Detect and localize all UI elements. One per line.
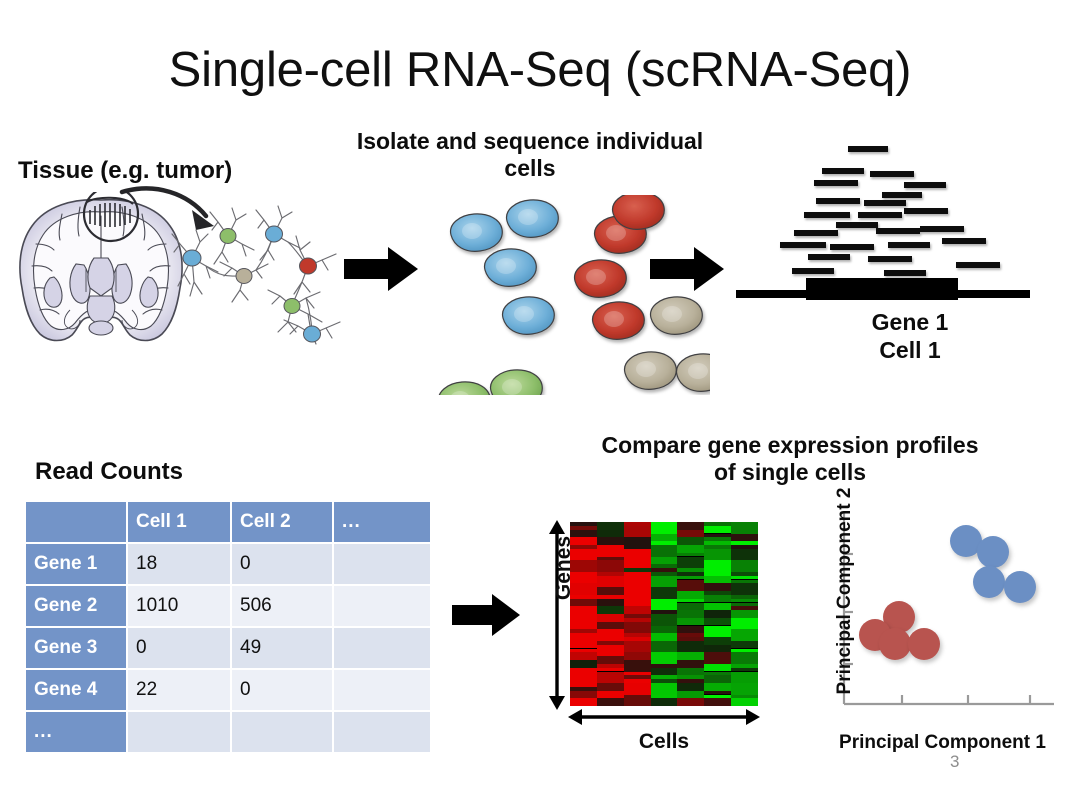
heatmap-cell [651,576,678,588]
heatmap-cell [731,522,758,534]
heatmap-cell [704,583,731,591]
heatmap-cell [624,683,651,695]
row-value-rest [334,628,430,668]
heatmap-cell [570,537,597,545]
row-value-rest [334,586,430,626]
sequencing-reads-pileup [718,138,1048,308]
heatmap-cell [704,618,731,626]
heatmap-cell [597,622,624,630]
heatmap-cell [651,545,678,557]
neuron-soma-green [284,299,300,314]
heatmap-column [704,522,731,706]
table-row: Gene 2 1010 506 [26,586,430,626]
heatmap-cell [597,587,624,595]
pca-point-red [879,628,911,660]
heatmap-cell [731,629,758,641]
heatmap-cell [704,549,731,561]
heatmap-cell [704,626,731,638]
row-value-cell1 [128,712,230,752]
heatmap-cell [704,664,731,672]
heatmap-cell [624,606,651,614]
heatmap-cell [677,557,704,569]
heatmap-column [624,522,651,706]
heatmap-cell [624,526,651,538]
isolated-cells-illustration [420,195,710,395]
heatmap-cell [731,652,758,664]
heatmap-column [731,522,758,706]
heatmap-canvas [570,522,758,706]
heatmap-cell [651,652,678,664]
pca-scatter-plot: Principal Component 2 Principal Componen… [800,500,1065,770]
heatmap-cell [677,698,704,706]
heatmap-cell [704,637,731,645]
heatmap-cell [624,652,651,660]
heatmap-cell [677,691,704,699]
pca-y-axis-label: Principal Component 2 [834,476,856,706]
heatmap-cell [597,522,624,530]
heatmap-cell [651,668,678,676]
heatmap-cell [677,626,704,634]
heatmap-cell [597,530,624,538]
heatmap-cell [651,698,678,706]
heatmap-cell [677,522,704,530]
read-bars [780,146,1000,276]
row-value-rest [334,712,430,752]
heatmap-column [597,522,624,706]
neuron-network-illustration [170,190,350,345]
heatmap-cell [704,645,731,653]
heatmap-cell [651,633,678,641]
heatmap-cell [704,526,731,534]
heatmap-cell [704,683,731,691]
row-label: ... [26,712,126,752]
heatmap-cell [570,599,597,607]
row-label: Gene 3 [26,628,126,668]
pca-axes [840,508,1058,720]
heatmap-cell [677,652,704,660]
heatmap-cell [597,675,624,683]
compare-expression-heading: Compare gene expression profiles of sing… [590,432,990,486]
row-value-cell2: 0 [232,670,332,710]
heatmap-cell [677,668,704,676]
row-value-cell1: 18 [128,544,230,584]
row-label: Gene 1 [26,544,126,584]
heatmap-cell [704,595,731,603]
heatmap-cell [624,660,651,672]
heatmap-column [570,522,597,706]
heatmap-cell [624,583,651,595]
heatmap-cell [677,610,704,618]
cells-axis-arrow [568,708,760,726]
heatmap-cell [731,698,758,706]
arrow-to-isolated-cells [344,245,420,293]
neuron-soma-tan [236,269,252,284]
cell-label: Cell 1 [780,336,1040,364]
heatmap-cell [570,530,597,538]
heatmap-cell [731,672,758,684]
heatmap-cell [597,656,624,664]
heatmap-cell [651,522,678,534]
heatmap-cell [677,580,704,592]
heatmap-cell [731,618,758,630]
heatmap-cell [570,606,597,614]
table-header-row: Cell 1 Cell 2 ... [26,502,430,542]
row-value-cell2: 49 [232,628,332,668]
expression-heatmap: Genes Cells [540,508,780,768]
table-header-cell-2: Cell 2 [232,502,332,542]
table-header-cell-1: Cell 1 [128,502,230,542]
table-row: Gene 4 22 0 [26,670,430,710]
heatmap-cell [570,583,597,595]
table-row: Gene 1 18 0 [26,544,430,584]
heatmap-cell [570,549,597,561]
arrow-to-sequencing [650,245,726,293]
row-value-cell1: 22 [128,670,230,710]
row-label: Gene 2 [26,586,126,626]
page-title: Single-cell RNA-Seq (scRNA-Seq) [0,42,1080,98]
heatmap-cell [597,629,624,641]
pca-x-axis-label: Principal Component 1 [820,732,1065,754]
heatmap-cell [731,683,758,695]
heatmap-cell [651,641,678,653]
row-label: Gene 4 [26,670,126,710]
heatmap-cell [677,545,704,553]
heatmap-cell [570,641,597,649]
heatmap-cell [597,560,624,572]
heatmap-cell [624,622,651,634]
heatmap-cell [704,603,731,611]
row-value-rest [334,670,430,710]
heatmap-cell [731,560,758,572]
heatmap-cell [704,675,731,683]
heatmap-cell [624,572,651,584]
heatmap-cell [570,572,597,584]
heatmap-cell [651,599,678,611]
heatmap-cell [731,534,758,542]
heatmap-cell [597,614,624,622]
heatmap-cell [651,557,678,565]
heatmap-cell [570,660,597,668]
heatmap-column [651,522,678,706]
row-value-cell2: 0 [232,544,332,584]
heatmap-cell [597,645,624,657]
heatmap-cell [624,695,651,707]
heatmap-cell [677,530,704,538]
table-corner-cell [26,502,126,542]
heatmap-cell [624,560,651,568]
gene-label: Gene 1 [780,308,1040,336]
heatmap-cell [597,537,624,545]
row-value-cell1: 0 [128,628,230,668]
table-header-cell-3: ... [334,502,430,542]
heatmap-cell [651,534,678,542]
isolate-sequence-heading: Isolate and sequence individual cells [355,128,705,182]
heatmap-cell [570,691,597,699]
heatmap-cell [704,576,731,584]
heatmap-cell [704,564,731,576]
heatmap-cell [570,633,597,641]
heatmap-cell [570,668,597,676]
heatmap-cell [597,606,624,614]
neuron-soma-blue [183,250,201,266]
heatmap-cell [731,549,758,561]
heatmap-cell [597,599,624,607]
heatmap-cell [624,549,651,561]
heatmap-cell [651,626,678,634]
slide-canvas: Single-cell RNA-Seq (scRNA-Seq) Tissue (… [0,0,1080,810]
heatmap-cell [731,583,758,595]
pca-point-blue [977,536,1009,568]
heatmap-cell [677,603,704,611]
heatmap-cell [570,560,597,572]
heatmap-cell [651,614,678,626]
pca-point-blue [973,566,1005,598]
heatmap-cell [704,698,731,706]
heatmap-cell [624,641,651,653]
neuron-soma-red [300,258,317,274]
heatmap-cell [624,537,651,549]
heatmap-cell [704,610,731,618]
heatmap-cell [677,537,704,545]
neuron-soma-blue [266,226,283,242]
gene-cell-label: Gene 1 Cell 1 [780,308,1040,364]
heatmap-cell [597,698,624,706]
heatmap-cell [597,683,624,691]
heatmap-cell [704,652,731,664]
heatmap-cell [570,652,597,660]
heatmap-cell [597,545,624,557]
read-counts-heading: Read Counts [35,458,183,486]
table-row: Gene 3 0 49 [26,628,430,668]
heatmap-cell [731,641,758,649]
row-value-rest [334,544,430,584]
heatmap-cell [570,679,597,687]
row-value-cell2 [232,712,332,752]
row-value-cell2: 506 [232,586,332,626]
heatmap-column [677,522,704,706]
heatmap-cell [597,691,624,699]
read-counts-table: Cell 1 Cell 2 ... Gene 1 18 0 Gene 2 101… [24,500,432,754]
heatmap-cell [677,618,704,626]
neuron-soma-blue [304,326,321,342]
neuron-soma-green [220,229,236,244]
heatmap-cell [651,683,678,695]
heatmap-cell [677,641,704,653]
heatmap-cell [731,610,758,618]
heatmap-cell [677,683,704,691]
slide-number: 3 [950,752,959,772]
heatmap-cell [651,587,678,599]
heatmap-cell [624,599,651,607]
heatmap-cell [677,660,704,668]
arrow-to-heatmap [452,592,522,638]
row-value-cell1: 1010 [128,586,230,626]
heatmap-cell [570,618,597,630]
heatmap-cell [570,698,597,706]
heatmap-cell [677,591,704,599]
heatmap-cell [597,576,624,588]
gene-body-block [806,278,958,300]
table-row: ... [26,712,430,752]
heatmap-x-axis-label: Cells [570,730,758,754]
